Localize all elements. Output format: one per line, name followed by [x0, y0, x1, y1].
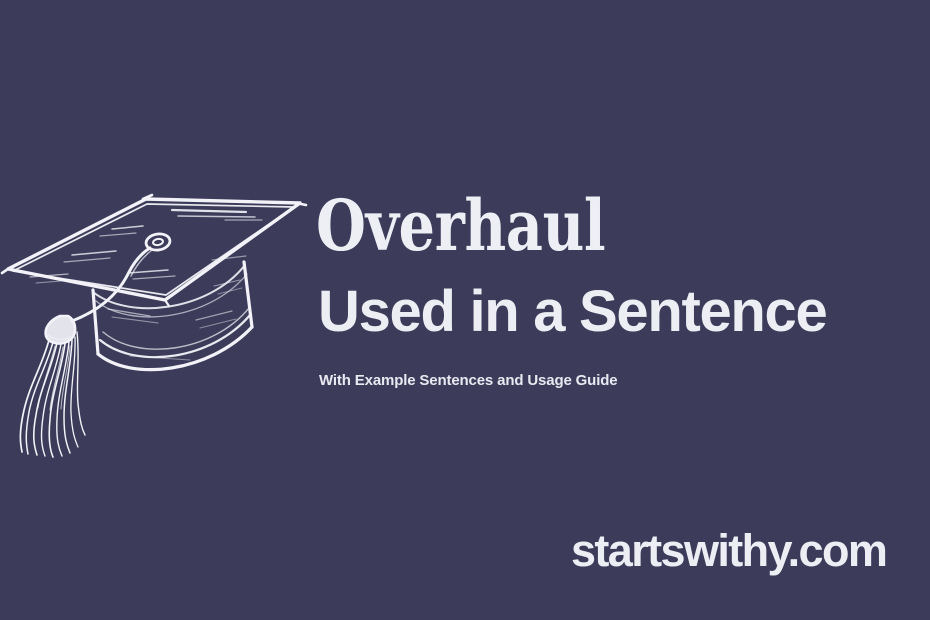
page-title-word: Overhaul	[316, 191, 605, 261]
page-subtitle: With Example Sentences and Usage Guide	[319, 372, 617, 390]
site-domain-label: startswithy.com	[571, 528, 886, 573]
graduation-cap-icon	[0, 170, 320, 460]
poster-canvas: Overhaul Used in a Sentence With Example…	[0, 0, 930, 620]
page-title-phrase: Used in a Sentence	[318, 283, 826, 341]
